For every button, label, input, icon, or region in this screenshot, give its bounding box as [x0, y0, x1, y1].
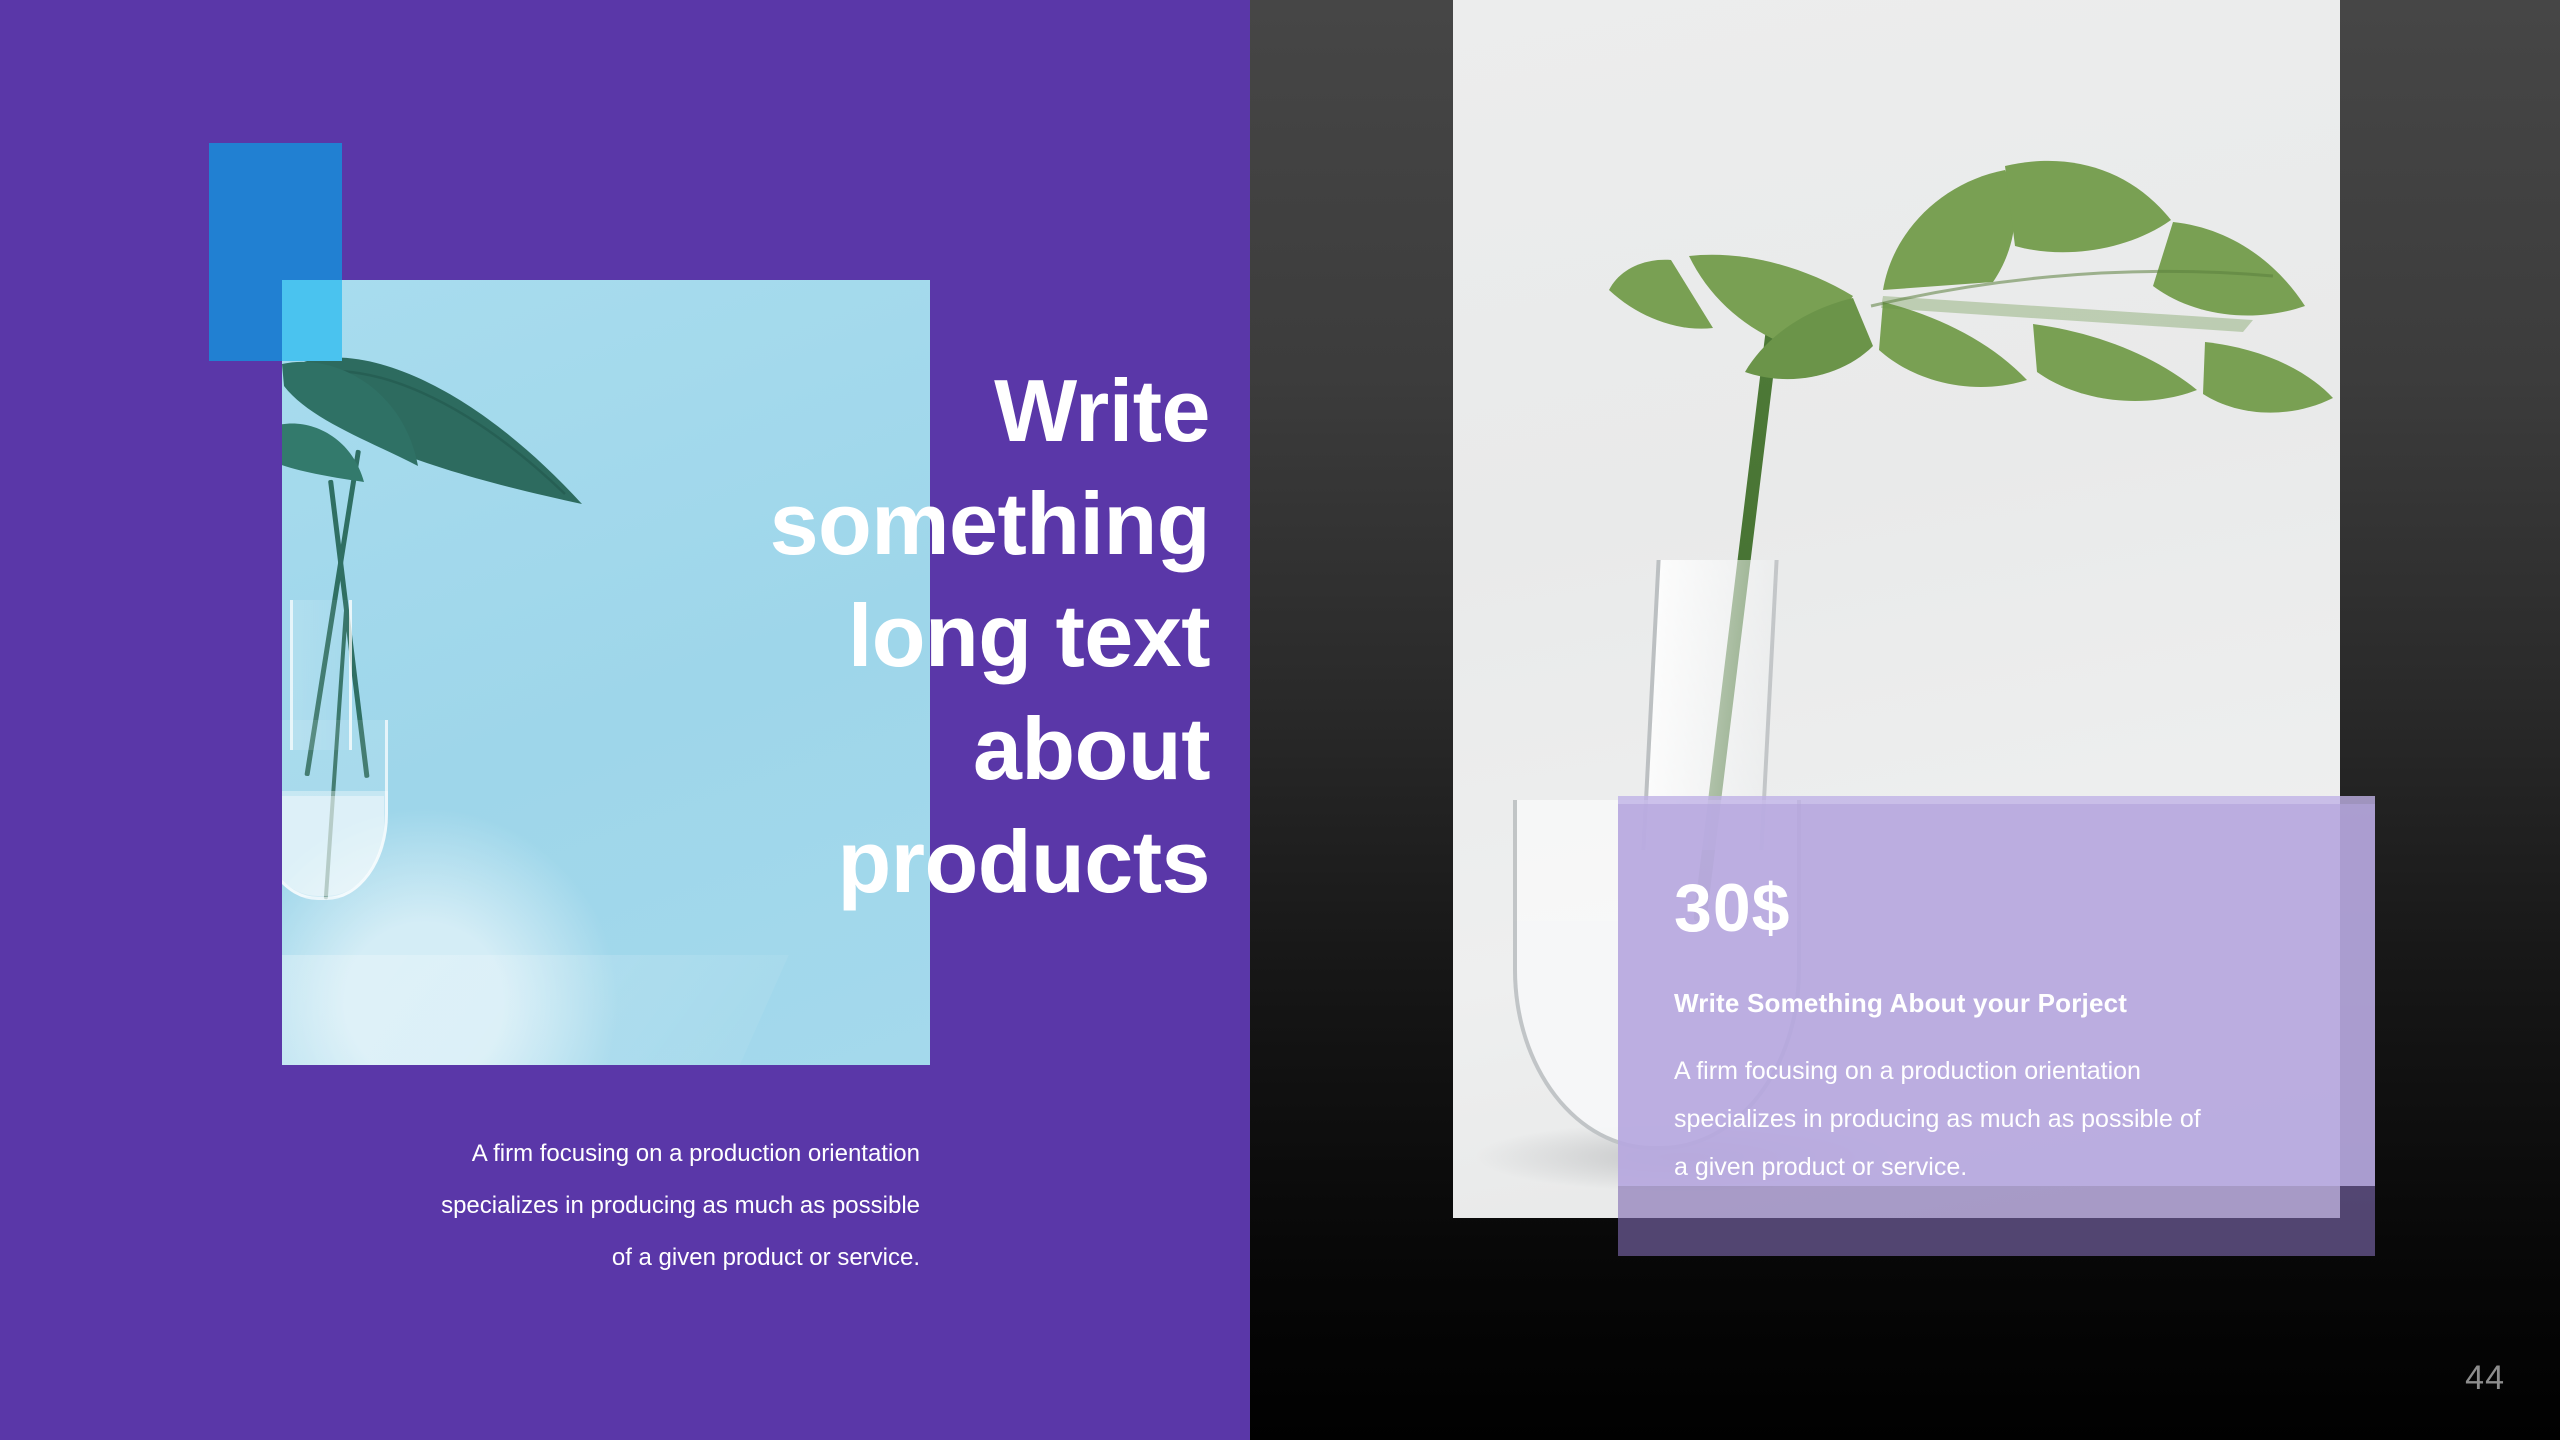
price-card[interactable]: 30$ Write Something About your Porject A… — [1618, 796, 2375, 1186]
price-card-body: A firm focusing on a production orientat… — [1674, 1047, 2334, 1191]
left-paragraph: A firm focusing on a production orientat… — [330, 1128, 920, 1283]
page-title: Write something long text about products — [0, 355, 1210, 918]
page-number: 44 — [2465, 1359, 2505, 1398]
price-card-subtitle: Write Something About your Porject — [1674, 988, 2375, 1019]
slide-canvas: Write something long text about products… — [0, 0, 2560, 1440]
table-surface — [282, 955, 789, 1065]
monstera-leaf-icon — [1553, 110, 2340, 440]
decorative-cyan-overlap — [282, 280, 342, 361]
price-amount: 30$ — [1674, 874, 2375, 942]
